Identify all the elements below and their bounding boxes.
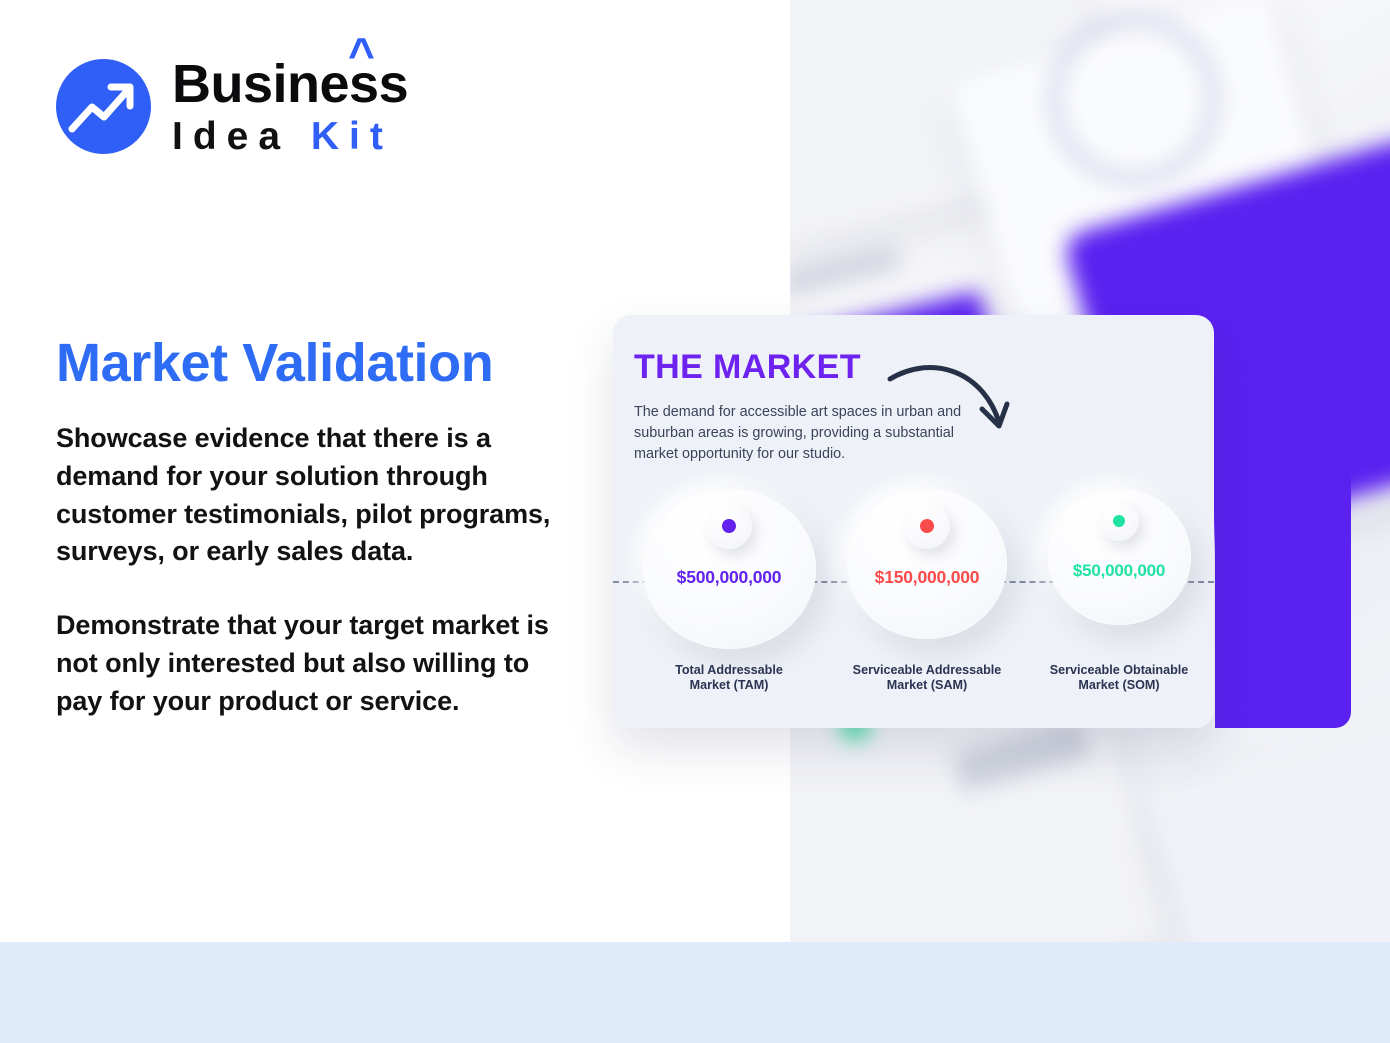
metric-caption: Serviceable Obtainable Market (SOM) <box>1024 663 1214 694</box>
metric-amount: $500,000,000 <box>643 567 816 588</box>
metric-caption: Serviceable Addressable Market (SAM) <box>827 663 1027 694</box>
metric-label-line1: Total Addressable <box>675 663 783 677</box>
bubble-disc: $150,000,000 <box>847 489 1007 639</box>
dot-core <box>722 519 736 533</box>
metric-label-line2: Market (TAM) <box>690 678 769 692</box>
metric-label-line1: Serviceable Obtainable <box>1050 663 1189 677</box>
metric-label-line1: Serviceable Addressable <box>853 663 1002 677</box>
status-dot-icon <box>1099 501 1139 541</box>
status-dot-icon <box>706 503 752 549</box>
status-dot-icon <box>904 503 950 549</box>
bubble-disc: $500,000,000 <box>643 489 816 649</box>
brand-name-line1: Business ^ <box>172 57 408 111</box>
bubble-disc: $50,000,000 <box>1048 489 1191 625</box>
body-copy: Showcase evidence that there is a demand… <box>56 420 576 721</box>
metric-bubble-tam[interactable]: $500,000,000 Total Addressable Market (T… <box>629 489 829 649</box>
purple-accent-block <box>1215 315 1351 728</box>
brand-idea-text: Idea <box>172 115 290 158</box>
brand-logo[interactable]: Business ^ Idea Kit <box>56 57 408 156</box>
metric-label-line2: Market (SOM) <box>1078 678 1159 692</box>
circumflex-accent-icon: ^ <box>348 31 374 77</box>
metric-caption: Total Addressable Market (TAM) <box>629 663 829 694</box>
dot-core <box>920 519 934 533</box>
metric-amount: $50,000,000 <box>1048 561 1191 581</box>
brand-name-line2: Idea Kit <box>172 117 408 156</box>
metric-amount: $150,000,000 <box>847 567 1007 588</box>
brand-kit-text: Kit <box>311 115 393 158</box>
bottom-accent-strip <box>0 942 1390 1043</box>
slide-canvas: Business ^ Idea Kit Market Validation Sh… <box>0 0 1390 1043</box>
metric-bubble-sam[interactable]: $150,000,000 Serviceable Addressable Mar… <box>827 489 1027 639</box>
the-market-card: THE MARKET The demand for accessible art… <box>613 315 1214 728</box>
page-title: Market Validation <box>56 332 493 394</box>
brand-wordmark: Business ^ Idea Kit <box>172 57 408 156</box>
card-title: THE MARKET <box>634 348 861 387</box>
market-size-chart: $500,000,000 Total Addressable Market (T… <box>613 489 1214 699</box>
body-paragraph-1: Showcase evidence that there is a demand… <box>56 420 576 571</box>
body-paragraph-2: Demonstrate that your target market is n… <box>56 607 576 720</box>
metric-bubble-som[interactable]: $50,000,000 Serviceable Obtainable Marke… <box>1024 489 1214 625</box>
card-header: THE MARKET <box>634 348 861 387</box>
dot-core <box>1113 515 1125 527</box>
trend-up-arrow-icon <box>56 59 151 154</box>
curved-arrow-down-right-icon <box>886 357 1016 452</box>
metric-label-line2: Market (SAM) <box>887 678 967 692</box>
